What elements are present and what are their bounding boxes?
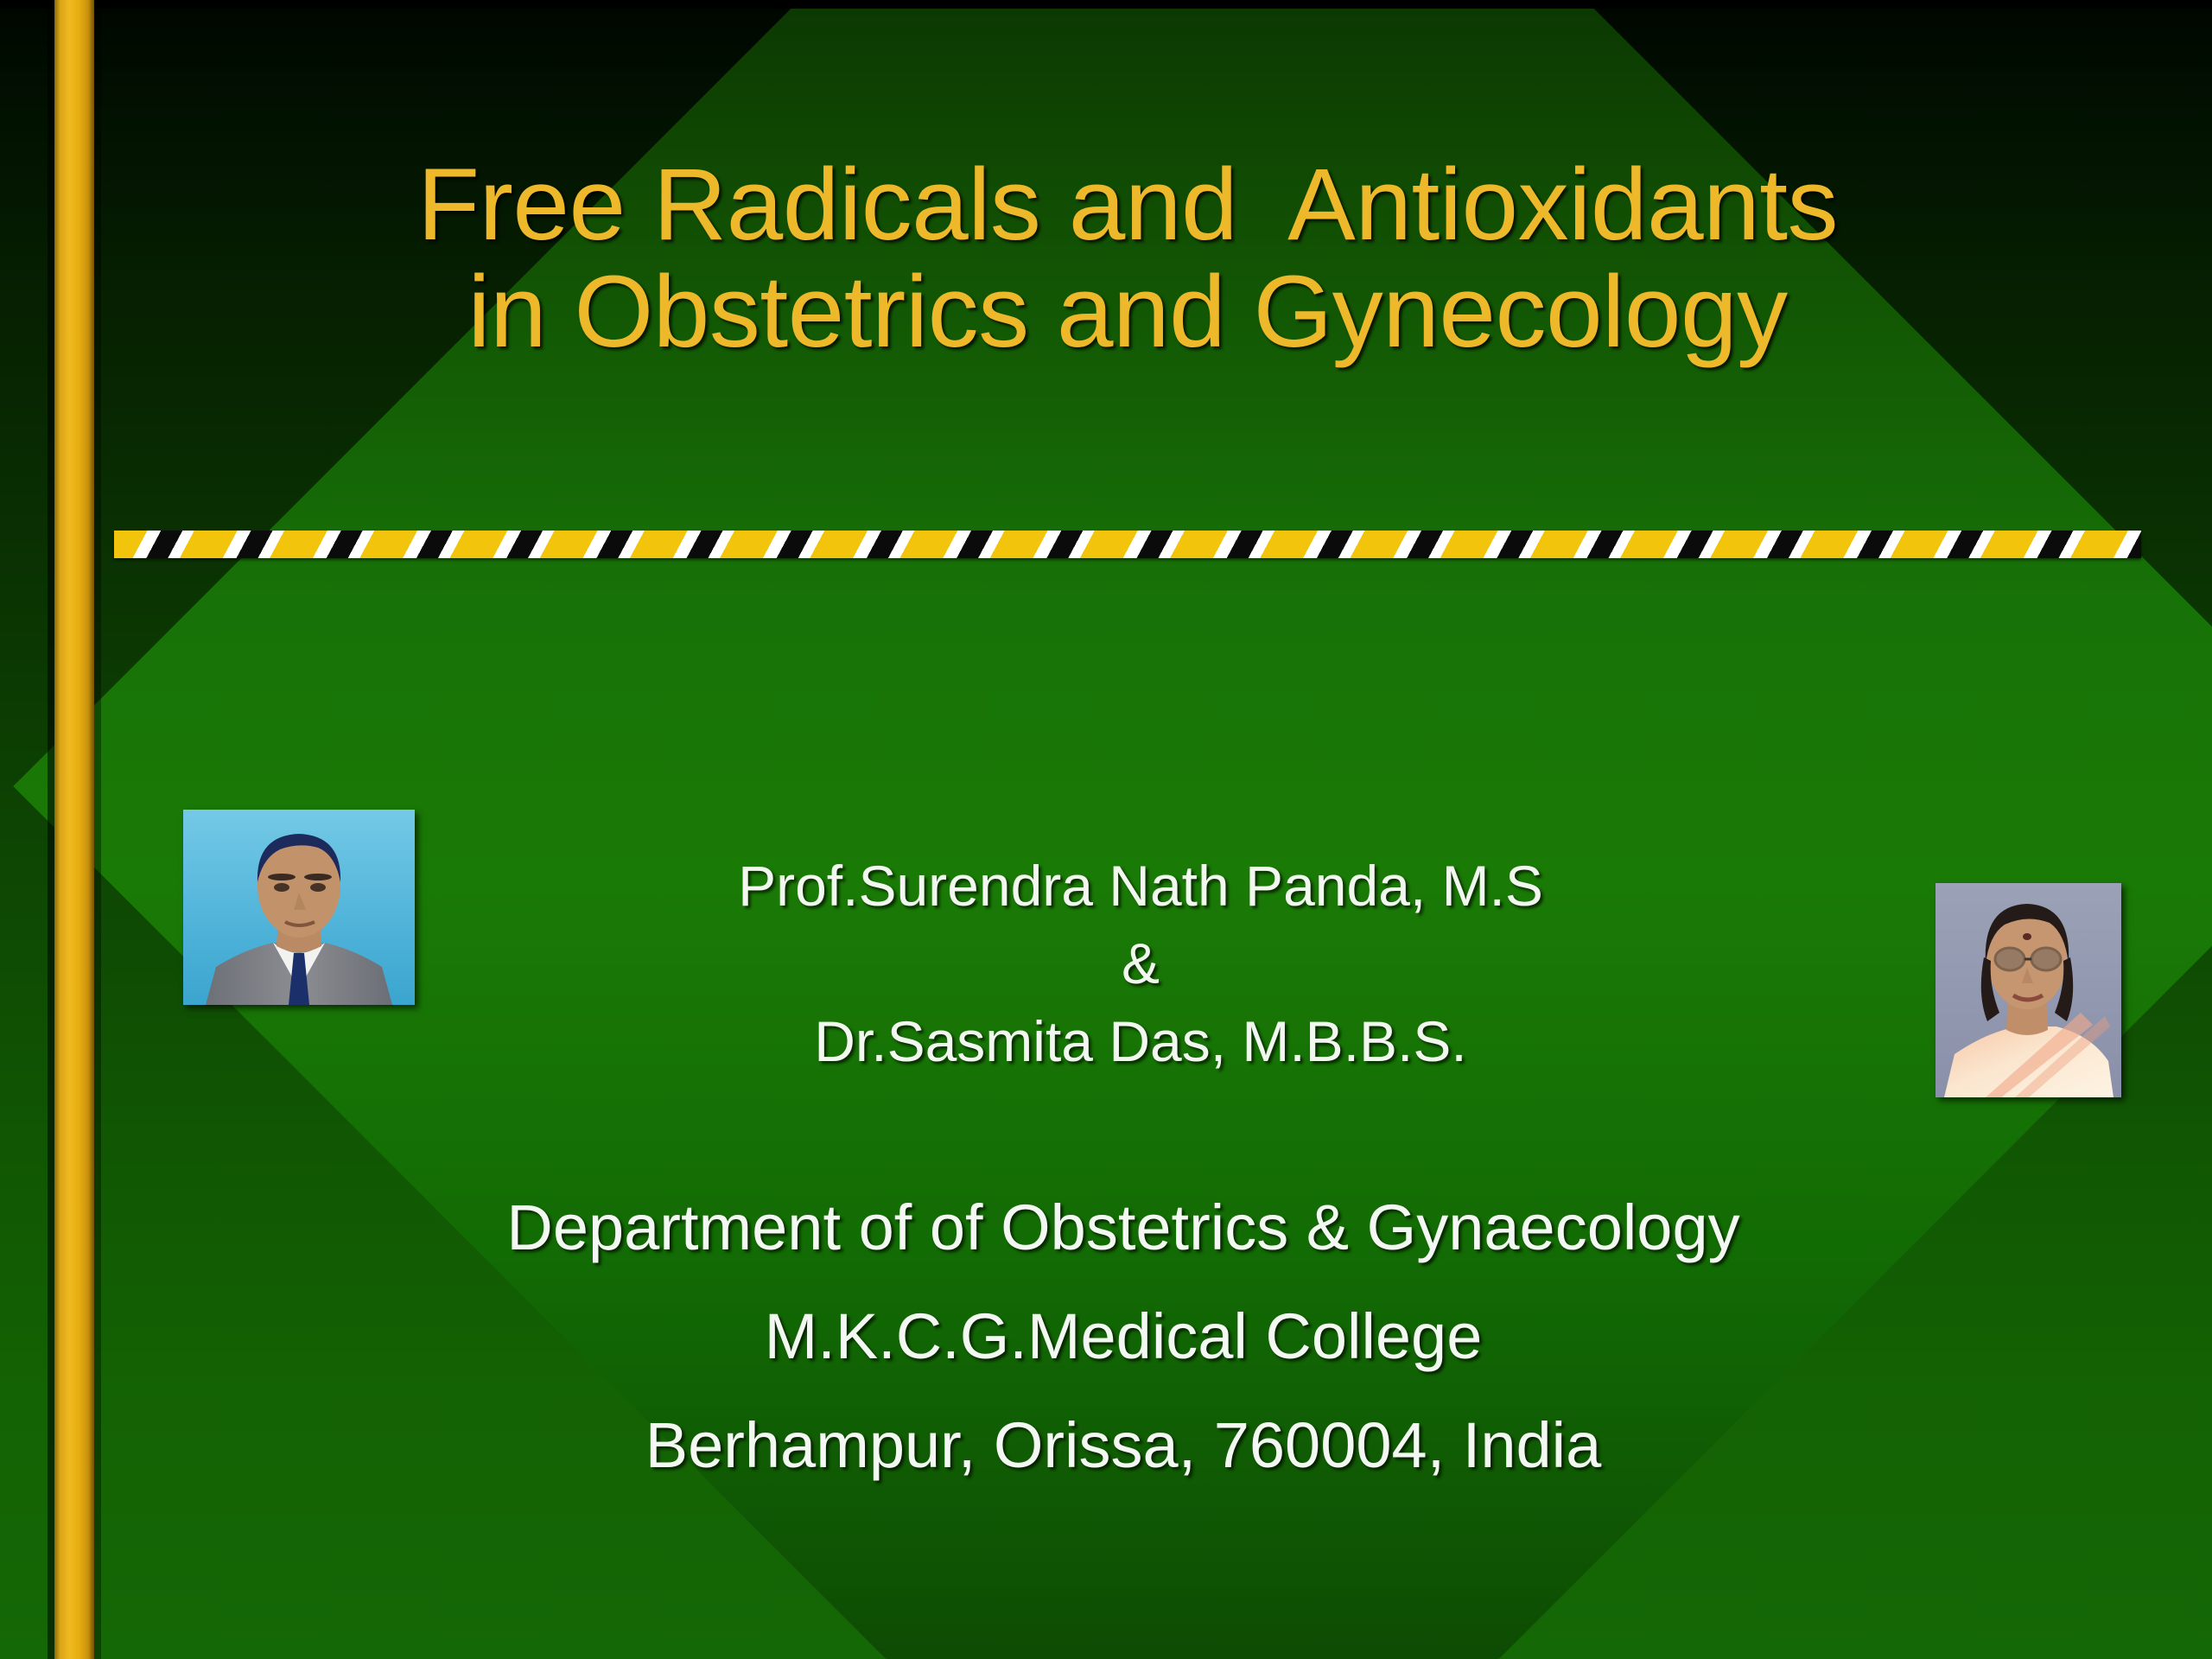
gold-bar-shadow-right (94, 0, 101, 1659)
affiliation-institution: M.K.C.G.Medical College (156, 1282, 2091, 1391)
slide-title: Free Radicals and Antioxidants in Obstet… (121, 151, 2134, 365)
top-black-band (0, 0, 2212, 9)
title-line-2: in Obstetrics and Gynecology (121, 258, 2134, 365)
author-line-2: Dr.Sasmita Das, M.B.B.S. (510, 1002, 1771, 1080)
author-line-1: Prof.Surendra Nath Panda, M.S (510, 847, 1771, 925)
female-author-portrait-illustration (1935, 883, 2121, 1097)
portrait-photo-male-author (183, 810, 415, 1005)
male-author-portrait-illustration (183, 810, 415, 1005)
gold-vertical-bar (54, 0, 94, 1659)
portrait-photo-female-author (1935, 883, 2121, 1097)
affiliation-block: Department of of Obstetrics & Gynaecolog… (156, 1173, 2091, 1500)
caution-stripe-divider (114, 531, 2141, 558)
author-list: Prof.Surendra Nath Panda, M.S & Dr.Sasmi… (510, 847, 1771, 1080)
affiliation-address: Berhampur, Orissa, 760004, India (156, 1391, 2091, 1500)
title-line-1: Free Radicals and Antioxidants (121, 151, 2134, 258)
presentation-slide: Free Radicals and Antioxidants in Obstet… (0, 0, 2212, 1659)
author-separator: & (510, 925, 1771, 1002)
affiliation-department: Department of of Obstetrics & Gynaecolog… (156, 1173, 2091, 1282)
